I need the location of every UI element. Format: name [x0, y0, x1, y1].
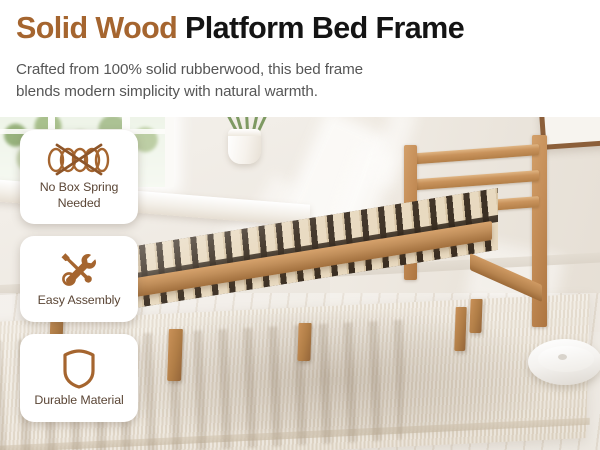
feature-badge-easy-assembly[interactable]: Easy Assembly [20, 236, 138, 322]
no-box-spring-icon [43, 143, 115, 177]
tools-icon [58, 250, 100, 290]
shield-icon [60, 348, 98, 390]
feature-badge-label: Durable Material [29, 393, 128, 408]
feature-badge-no-box-spring[interactable]: No Box Spring Needed [20, 130, 138, 224]
feature-badge-durable-material[interactable]: Durable Material [20, 334, 138, 422]
product-banner: Solid Wood Platform Bed Frame Crafted fr… [0, 0, 600, 450]
feature-badge-label: No Box Spring Needed [20, 180, 138, 210]
feature-badge-list: No Box Spring Needed Easy Assembly [0, 0, 600, 450]
feature-badge-label: Easy Assembly [33, 293, 126, 308]
